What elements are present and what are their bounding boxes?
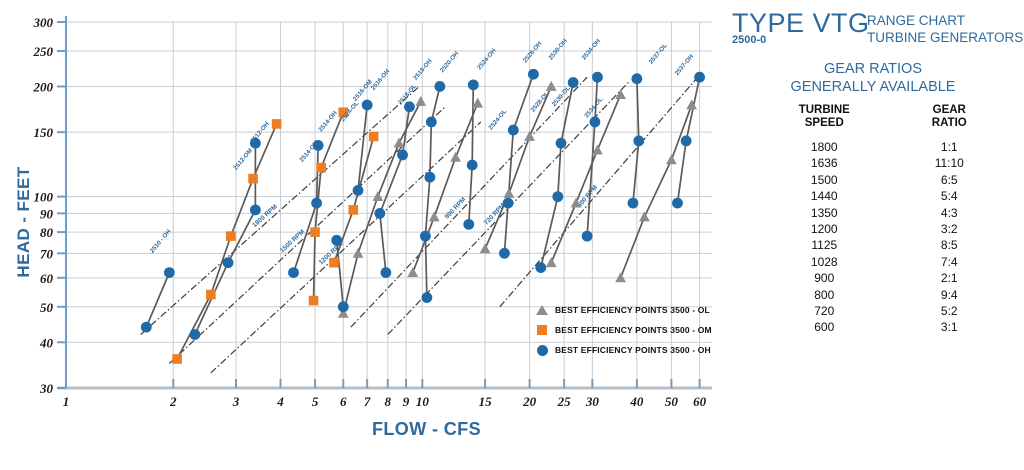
model-line [425, 177, 429, 236]
cell-turbine-speed: 1500 [750, 172, 899, 188]
data-point-oh[interactable] [380, 267, 391, 278]
x-axis-tick-label: 7 [364, 394, 371, 409]
model-line [677, 141, 686, 203]
data-point-ol[interactable] [415, 96, 426, 106]
table-row: 13504:3 [750, 205, 1000, 221]
y-axis-tick-label: 200 [33, 79, 54, 94]
x-axis-tick-label: 8 [385, 394, 392, 409]
model-line [504, 203, 508, 253]
y-axis-tick-label: 30 [39, 381, 54, 396]
model-line [558, 143, 561, 196]
model-line [587, 122, 595, 236]
data-point-ol[interactable] [615, 272, 626, 282]
x-axis-tick-label: 25 [557, 394, 572, 409]
range-chart-page: 3040506070809010015020025030012345678910… [0, 0, 1024, 470]
cell-turbine-speed: 1028 [750, 254, 899, 270]
model-code-label: 2516-OM [352, 78, 374, 102]
model-line [177, 295, 211, 359]
x-axis-tick-label: 10 [416, 394, 430, 409]
cell-turbine-speed: 900 [750, 270, 899, 286]
cell-turbine-speed: 1636 [750, 155, 899, 171]
data-point-oh[interactable] [503, 198, 514, 209]
data-point-oh[interactable] [250, 204, 261, 215]
data-point-oh[interactable] [552, 191, 563, 202]
model-line [633, 141, 639, 203]
table-row: 6003:1 [750, 319, 1000, 335]
data-point-om[interactable] [172, 354, 182, 364]
chart-subtitle: RANGE CHART TURBINE GENERATORS [867, 12, 1023, 46]
x-axis-tick-label: 2 [169, 394, 177, 409]
legend-item-ol[interactable]: BEST EFFICIENCY POINTS 3500 - OL [535, 300, 712, 320]
circle-marker-icon [535, 345, 549, 356]
data-point-ol[interactable] [615, 89, 626, 99]
data-point-om[interactable] [272, 119, 282, 129]
data-point-oh[interactable] [338, 301, 349, 312]
model-line [621, 217, 645, 278]
model-line [456, 103, 478, 157]
cell-gear-ratio: 5:2 [899, 303, 1000, 319]
data-point-oh[interactable] [556, 138, 567, 149]
cell-turbine-speed: 1200 [750, 221, 899, 237]
y-axis-tick-label: 150 [34, 125, 54, 140]
model-code-label: 2537-OL [648, 42, 669, 65]
cell-gear-ratio: 4:3 [899, 205, 1000, 221]
model-line [358, 197, 378, 254]
data-point-ol[interactable] [504, 188, 515, 198]
gear-ratio-table: TURBINE GEAR SPEED RATIO 18001:1163611:1… [750, 104, 1000, 336]
data-point-oh[interactable] [404, 101, 415, 112]
y-axis-tick-label: 50 [40, 300, 54, 315]
legend-item-oh[interactable]: BEST EFFICIENCY POINTS 3500 - OH [535, 340, 712, 360]
cell-turbine-speed: 720 [750, 303, 899, 319]
data-point-oh[interactable] [508, 125, 519, 136]
cell-gear-ratio: 9:4 [899, 287, 1000, 303]
data-point-oh[interactable] [141, 322, 152, 333]
x-axis-tick-label: 5 [312, 394, 319, 409]
data-point-om[interactable] [348, 205, 358, 215]
x-axis-tick-label: 60 [693, 394, 707, 409]
data-point-om[interactable] [310, 227, 320, 237]
data-point-ol[interactable] [639, 211, 650, 221]
model-line [380, 213, 386, 272]
data-point-oh[interactable] [374, 208, 385, 219]
cell-turbine-speed: 1800 [750, 139, 899, 155]
table-row: 18001:1 [750, 139, 1000, 155]
data-point-oh[interactable] [468, 79, 479, 90]
table-row: 7205:2 [750, 303, 1000, 319]
table-row: 163611:10 [750, 155, 1000, 171]
data-point-oh[interactable] [164, 267, 175, 278]
data-point-ol[interactable] [666, 154, 677, 164]
y-axis-tick-label: 100 [34, 190, 54, 205]
brand-block: TYPE VTG 2500-0 [732, 8, 870, 46]
y-axis-tick-label: 250 [33, 44, 54, 59]
data-point-oh[interactable] [362, 100, 373, 111]
data-point-oh[interactable] [353, 185, 364, 196]
gear-ratios-heading: GEAR RATIOS GENERALLY AVAILABLE [722, 60, 1024, 96]
x-axis-tick-label: 15 [479, 394, 493, 409]
data-point-oh[interactable] [628, 198, 639, 209]
model-line [644, 160, 671, 217]
chart-legend: BEST EFFICIENCY POINTS 3500 - OL BEST EF… [535, 300, 712, 360]
data-point-oh[interactable] [582, 231, 593, 242]
cell-gear-ratio: 3:2 [899, 221, 1000, 237]
model-code-label: 2534-OH [581, 37, 603, 61]
x-axis-tick-label: 30 [585, 394, 600, 409]
x-axis-title: FLOW - CFS [372, 419, 481, 440]
data-point-oh[interactable] [397, 150, 408, 161]
model-code-label: 2512-OM [232, 147, 254, 171]
cell-turbine-speed: 800 [750, 287, 899, 303]
model-code-label: 2534-OL [583, 96, 604, 119]
data-point-ol[interactable] [450, 152, 461, 162]
data-point-om[interactable] [226, 231, 236, 241]
cell-gear-ratio: 5:4 [899, 188, 1000, 204]
cell-gear-ratio: 3:1 [899, 319, 1000, 335]
x-axis-tick-label: 3 [232, 394, 240, 409]
col-header-gear: GEAR [899, 104, 1000, 117]
data-point-oh[interactable] [590, 117, 601, 128]
col-header-ratio: RATIO [899, 117, 1000, 139]
data-point-ol[interactable] [546, 257, 557, 267]
y-axis-tick-label: 70 [40, 246, 54, 261]
data-point-om[interactable] [248, 174, 258, 184]
data-point-oh[interactable] [528, 69, 539, 80]
model-line [231, 179, 253, 237]
cell-gear-ratio: 1:1 [899, 139, 1000, 155]
table-row: 12003:2 [750, 221, 1000, 237]
legend-label-oh: BEST EFFICIENCY POINTS 3500 - OH [555, 345, 711, 355]
y-axis-tick-label: 90 [40, 206, 54, 221]
x-axis-tick-label: 20 [522, 394, 537, 409]
info-panel: TYPE VTG 2500-0 RANGE CHART TURBINE GENE… [722, 0, 1024, 470]
gear-ratios-heading-line2: GENERALLY AVAILABLE [722, 78, 1024, 96]
data-point-oh[interactable] [592, 72, 603, 83]
cell-turbine-speed: 1125 [750, 237, 899, 253]
table-row: 11258:5 [750, 237, 1000, 253]
chart-plot: 3040506070809010015020025030012345678910… [0, 0, 722, 470]
data-point-oh[interactable] [499, 248, 510, 259]
model-line [413, 217, 434, 273]
y-axis-tick-label: 60 [40, 271, 54, 286]
legend-label-ol: BEST EFFICIENCY POINTS 3500 - OL [555, 305, 710, 315]
data-point-oh[interactable] [467, 160, 478, 171]
cell-turbine-speed: 600 [750, 319, 899, 335]
chart-subtitle-line2: TURBINE GENERATORS [867, 29, 1023, 46]
y-axis-tick-label: 40 [39, 335, 54, 350]
data-point-ol[interactable] [480, 243, 491, 253]
data-point-oh[interactable] [694, 72, 705, 83]
triangle-marker-icon [535, 305, 549, 315]
data-point-ol[interactable] [394, 138, 405, 148]
x-axis-tick-label: 50 [665, 394, 679, 409]
data-point-ol[interactable] [546, 81, 557, 91]
legend-label-om: BEST EFFICIENCY POINTS 3500 - OM [555, 325, 712, 335]
model-code-label: 2524-OL [487, 108, 508, 131]
data-point-om[interactable] [316, 163, 326, 173]
data-point-oh[interactable] [631, 73, 642, 84]
chart-panel: 3040506070809010015020025030012345678910… [0, 0, 722, 470]
data-point-oh[interactable] [434, 81, 445, 92]
col-header-speed: SPEED [750, 117, 899, 139]
model-code-label: 2518-OH [412, 57, 434, 81]
data-point-oh[interactable] [424, 172, 435, 183]
data-point-oh[interactable] [681, 135, 692, 146]
model-line [378, 143, 399, 196]
model-code-label: 2530-OH [547, 37, 569, 61]
data-point-oh[interactable] [189, 329, 200, 340]
gear-ratios-heading-line1: GEAR RATIOS [722, 60, 1024, 78]
model-code-label: 2520-OH [439, 50, 461, 74]
rpm-line [211, 122, 481, 373]
data-point-oh[interactable] [288, 267, 299, 278]
x-axis-tick-label: 6 [340, 394, 347, 409]
cell-gear-ratio: 8:5 [899, 237, 1000, 253]
model-code-label: 2528-OH [522, 40, 544, 64]
x-axis-tick-label: 4 [276, 394, 284, 409]
data-point-om[interactable] [309, 296, 319, 306]
data-point-ol[interactable] [353, 248, 364, 258]
model-line [472, 85, 473, 165]
cell-gear-ratio: 2:1 [899, 270, 1000, 286]
cell-turbine-speed: 1440 [750, 188, 899, 204]
square-marker-icon [535, 325, 549, 335]
model-line [425, 236, 427, 297]
data-point-oh[interactable] [463, 219, 474, 230]
data-point-oh[interactable] [426, 117, 437, 128]
data-point-ol[interactable] [407, 267, 418, 277]
y-axis-title: HEAD - FEET [14, 162, 34, 282]
y-axis-tick-label: 300 [33, 15, 54, 30]
data-point-oh[interactable] [420, 231, 431, 242]
cell-gear-ratio: 6:5 [899, 172, 1000, 188]
model-line [431, 86, 440, 121]
col-header-turbine: TURBINE [750, 104, 899, 117]
model-line [513, 74, 533, 130]
cell-gear-ratio: 11:10 [899, 155, 1000, 171]
data-point-oh[interactable] [223, 257, 234, 268]
data-point-oh[interactable] [633, 135, 644, 146]
table-row: 15006:5 [750, 172, 1000, 188]
legend-item-om[interactable]: BEST EFFICIENCY POINTS 3500 - OM [535, 320, 712, 340]
cell-turbine-speed: 1350 [750, 205, 899, 221]
y-axis-tick-label: 80 [40, 225, 54, 240]
x-axis-tick-label: 40 [629, 394, 644, 409]
data-point-om[interactable] [329, 258, 339, 268]
data-point-oh[interactable] [568, 77, 579, 88]
data-point-om[interactable] [369, 132, 379, 142]
model-code-label: 2537-OH [674, 53, 696, 77]
model-code-label: 2516-OH [370, 68, 392, 92]
table-row: 9002:1 [750, 270, 1000, 286]
x-axis-tick-label: 1 [63, 394, 70, 409]
data-point-oh[interactable] [311, 198, 322, 209]
data-point-oh[interactable] [422, 292, 433, 303]
data-point-ol[interactable] [372, 191, 383, 201]
table-row: 8009:4 [750, 287, 1000, 303]
cell-gear-ratio: 7:4 [899, 254, 1000, 270]
gear-ratio-table-body: 18001:1163611:1015006:514405:413504:3120… [750, 139, 1000, 336]
data-point-ol[interactable] [429, 211, 440, 221]
rpm-line [351, 77, 587, 327]
table-row: 14405:4 [750, 188, 1000, 204]
table-row: 10287:4 [750, 254, 1000, 270]
model-line [469, 165, 472, 224]
chart-subtitle-line1: RANGE CHART [867, 12, 1023, 29]
x-axis-tick-label: 9 [403, 394, 410, 409]
data-point-oh[interactable] [331, 235, 342, 246]
data-point-om[interactable] [206, 290, 216, 300]
data-point-oh[interactable] [535, 262, 546, 273]
data-point-oh[interactable] [672, 198, 683, 209]
